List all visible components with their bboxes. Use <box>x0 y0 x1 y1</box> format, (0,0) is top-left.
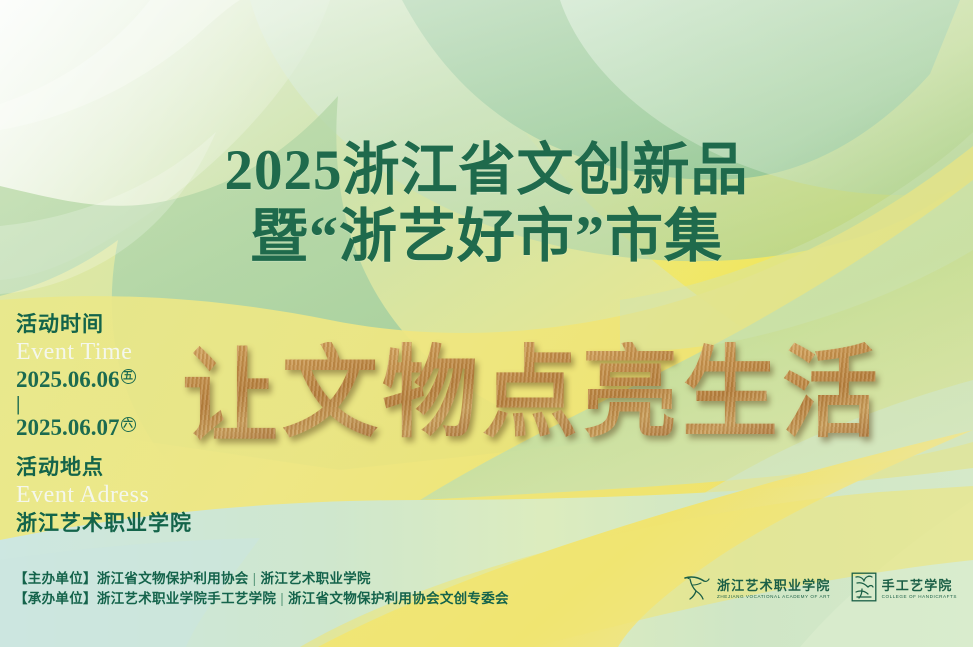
event-date-end: 2025.06.07六 <box>16 413 136 443</box>
event-address-block: 活动地点 Event Adress 浙江艺术职业学院 <box>16 455 192 537</box>
credit-org-host-1: 浙江艺术职业学院手工艺学院 <box>97 591 276 606</box>
logo-text-handicrafts: 手工艺学院 COLLEGE OF HANDICRAFTS <box>882 579 957 600</box>
event-address-heading-cn: 活动地点 <box>16 455 192 481</box>
event-date-end-value: 2025.06.07 <box>16 415 120 440</box>
credit-org-host-2: 浙江省文物保护利用协会文创专委会 <box>288 591 509 606</box>
event-date-separator: | <box>16 395 136 413</box>
credit-divider-icon: | <box>276 591 288 606</box>
sponsor-logos: 浙江艺术职业学院 ZHEJIANG VOCATIONAL ACADEMY OF … <box>682 572 957 607</box>
logo-name-en: ZHEJIANG VOCATIONAL ACADEMY OF ART <box>717 595 831 600</box>
credit-line-organizer: 【主办单位】浙江省文物保护利用协会|浙江艺术职业学院 <box>14 569 509 589</box>
credit-org-organizer-2: 浙江艺术职业学院 <box>260 571 370 586</box>
logo-zhejiang-vocational-academy-of-art: 浙江艺术职业学院 ZHEJIANG VOCATIONAL ACADEMY OF … <box>682 572 831 607</box>
logo-text-academy: 浙江艺术职业学院 ZHEJIANG VOCATIONAL ACADEMY OF … <box>717 579 831 600</box>
credit-label-host: 【承办单位】 <box>14 591 97 606</box>
credit-divider-icon: | <box>249 571 261 586</box>
event-address-heading-en: Event Adress <box>16 482 192 508</box>
event-weekday-start: 五 <box>121 369 136 384</box>
event-venue-name: 浙江艺术职业学院 <box>16 510 192 537</box>
event-date-start: 2025.06.06五 <box>16 365 136 395</box>
credit-label-organizer: 【主办单位】 <box>14 571 97 586</box>
event-weekday-end: 六 <box>121 417 136 432</box>
logo-college-of-handicrafts: 手工艺学院 COLLEGE OF HANDICRAFTS <box>851 572 957 607</box>
event-time-heading-cn: 活动时间 <box>16 312 136 338</box>
event-time-block: 活动时间 Event Time 2025.06.06五 | 2025.06.07… <box>16 312 136 443</box>
crane-dancer-mark-icon <box>682 572 712 607</box>
seal-stamp-mark-icon <box>851 572 877 607</box>
poster-canvas: 2025浙江省文创新品 暨“浙艺好市”市集 让 文 物 点 亮 生 活 活动时间… <box>0 0 973 647</box>
event-date-start-value: 2025.06.06 <box>16 367 120 392</box>
background-artwork <box>0 0 973 647</box>
logo-name-cn: 手工艺学院 <box>882 579 957 592</box>
credit-line-host: 【承办单位】浙江艺术职业学院手工艺学院|浙江省文物保护利用协会文创专委会 <box>14 589 509 609</box>
logo-name-en: COLLEGE OF HANDICRAFTS <box>882 595 957 600</box>
logo-name-cn: 浙江艺术职业学院 <box>717 579 831 592</box>
credit-org-organizer-1: 浙江省文物保护利用协会 <box>97 571 249 586</box>
event-time-heading-en: Event Time <box>16 339 136 365</box>
organizer-credits: 【主办单位】浙江省文物保护利用协会|浙江艺术职业学院 【承办单位】浙江艺术职业学… <box>14 569 509 609</box>
